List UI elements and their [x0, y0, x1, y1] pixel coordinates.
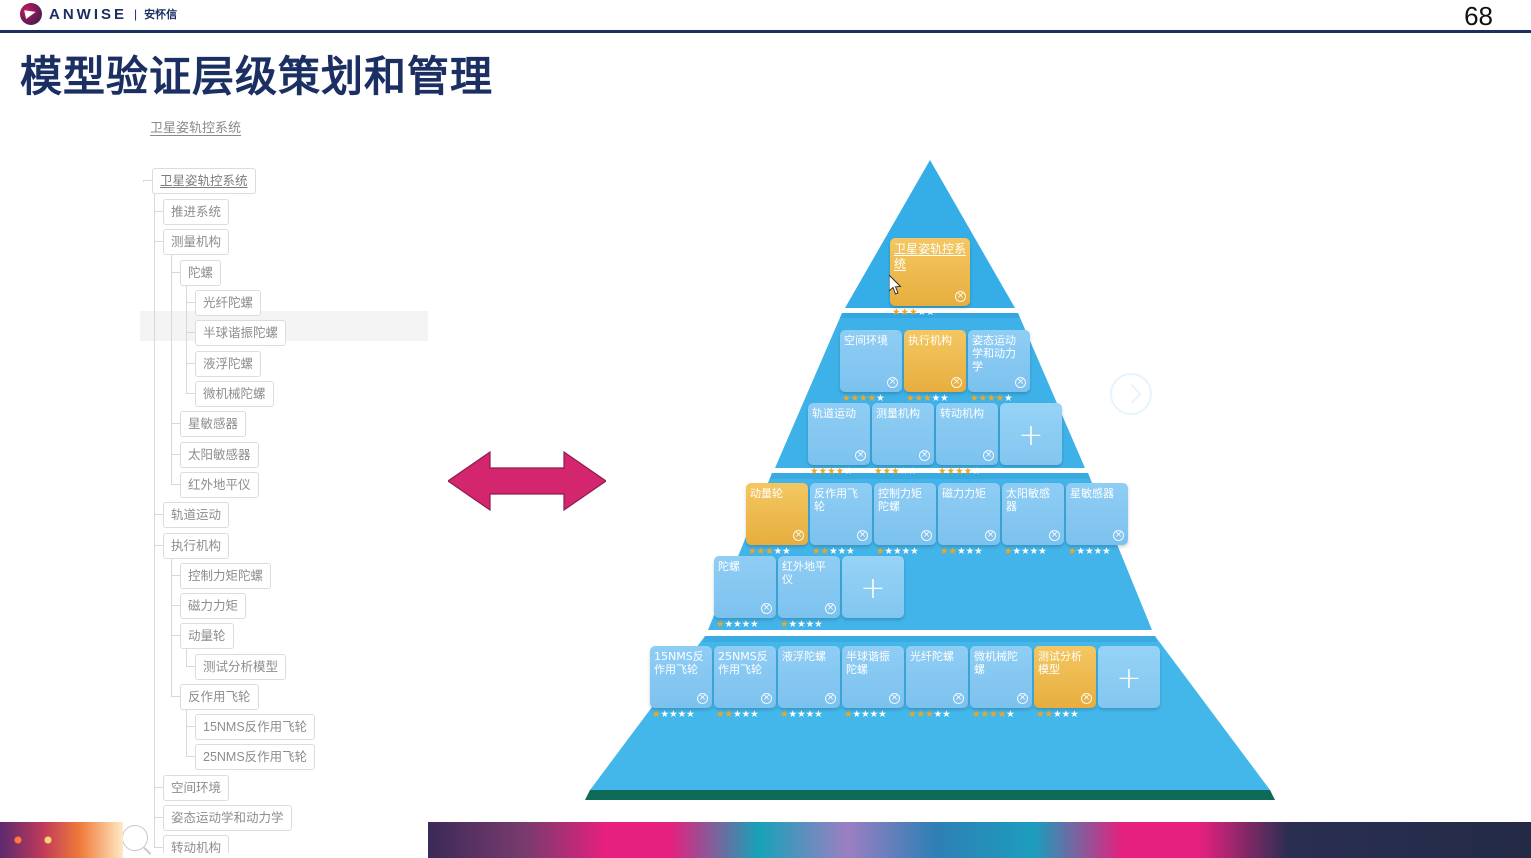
close-icon[interactable]: ×	[855, 450, 866, 461]
tree-node[interactable]: 光纤陀螺	[195, 290, 261, 316]
footer-decoration-band: ANWISE	[428, 822, 1531, 858]
pyramid-card[interactable]: 动量轮×	[746, 483, 808, 545]
pyramid-card[interactable]: 25NMS反作用飞轮×	[714, 646, 776, 708]
pyramid-card[interactable]: 反作用飞轮×	[810, 483, 872, 545]
rating-stars[interactable]: ★★★★★	[780, 620, 823, 630]
close-icon[interactable]: ×	[919, 450, 930, 461]
close-icon[interactable]: ×	[761, 603, 772, 614]
close-icon[interactable]: ×	[951, 377, 962, 388]
tree-node[interactable]: 液浮陀螺	[195, 351, 261, 377]
pyramid-card-label: 红外地平仪	[782, 560, 836, 586]
header-divider	[0, 30, 1531, 33]
pyramid-card[interactable]: 太阳敏感器×	[1002, 483, 1064, 545]
tree-node[interactable]: 反作用飞轮	[180, 684, 259, 710]
close-icon[interactable]: ×	[1113, 530, 1124, 541]
rating-stars[interactable]: ★★★★★	[810, 467, 853, 477]
rating-stars[interactable]: ★★★★★	[940, 547, 983, 557]
pyramid-card-label: 25NMS反作用飞轮	[718, 650, 772, 676]
close-icon[interactable]: ×	[985, 530, 996, 541]
slide-root: ANWISE | 安怀信 68 模型验证层级策划和管理 卫星姿轨控系统 卫星姿轨…	[0, 0, 1531, 858]
rating-stars[interactable]: ★★★★★	[1068, 547, 1111, 557]
close-icon[interactable]: ×	[921, 530, 932, 541]
pyramid-card-label: 星敏感器	[1070, 487, 1124, 500]
rating-stars[interactable]: ★★★★★	[908, 710, 951, 720]
pyramid-card-label: 反作用飞轮	[814, 487, 868, 513]
pyramid-card[interactable]: 光纤陀螺×	[906, 646, 968, 708]
pyramid-card-label: 姿态运动学和动力学	[972, 334, 1026, 373]
pyramid-card-label: 磁力力矩	[942, 487, 996, 500]
pyramid-card-label: 测量机构	[876, 407, 930, 420]
footer-decoration-left	[0, 822, 123, 858]
close-icon[interactable]: ×	[825, 693, 836, 704]
add-card-button[interactable]: +	[842, 556, 904, 618]
pyramid-card[interactable]: 半球谐振陀螺×	[842, 646, 904, 708]
close-icon[interactable]: ×	[1081, 693, 1092, 704]
brand-divider: |	[134, 7, 137, 21]
tree-node[interactable]: 15NMS反作用飞轮	[195, 714, 315, 740]
pyramid-card-label: 15NMS反作用飞轮	[654, 650, 708, 676]
tree-node[interactable]: 测试分析模型	[195, 654, 286, 680]
tree-node[interactable]: 转动机构	[163, 835, 229, 853]
plus-icon: +	[1116, 664, 1141, 694]
pyramid-card-label: 光纤陀螺	[910, 650, 964, 663]
mouse-cursor	[889, 275, 903, 295]
close-icon[interactable]: ×	[1015, 377, 1026, 388]
close-icon[interactable]: ×	[761, 693, 772, 704]
pyramid-card[interactable]: 星敏感器×	[1066, 483, 1128, 545]
tree-node[interactable]: 测量机构	[163, 229, 229, 255]
close-icon[interactable]: ×	[1049, 530, 1060, 541]
tree-node[interactable]: 太阳敏感器	[180, 442, 259, 468]
rating-stars[interactable]: ★★★★★	[716, 620, 759, 630]
pyramid-card-label: 太阳敏感器	[1006, 487, 1060, 513]
pyramid-card[interactable]: 15NMS反作用飞轮×	[650, 646, 712, 708]
pyramid-card[interactable]: 磁力力矩×	[938, 483, 1000, 545]
pyramid-card[interactable]: 姿态运动学和动力学×	[968, 330, 1030, 392]
pyramid-card-label: 空间环境	[844, 334, 898, 347]
rating-stars[interactable]: ★★★★★	[972, 710, 1015, 720]
rating-stars[interactable]: ★★★★★	[874, 467, 917, 477]
tree-node[interactable]: 执行机构	[163, 533, 229, 559]
tree-node[interactable]: 陀螺	[180, 260, 221, 286]
tree-node[interactable]: 星敏感器	[180, 411, 246, 437]
pyramid-card[interactable]: 控制力矩陀螺×	[874, 483, 936, 545]
rating-stars[interactable]: ★★★★★	[780, 710, 823, 720]
pyramid-card[interactable]: 红外地平仪×	[778, 556, 840, 618]
slide-header: ANWISE | 安怀信 68	[0, 0, 1531, 30]
tree-node[interactable]: 动量轮	[180, 623, 234, 649]
pyramid-card[interactable]: 微机械陀螺×	[970, 646, 1032, 708]
tree-node[interactable]: 姿态运动学和动力学	[163, 805, 292, 831]
tree-node[interactable]: 空间环境	[163, 775, 229, 801]
close-icon[interactable]: ×	[1017, 693, 1028, 704]
pyramid-card-label: 液浮陀螺	[782, 650, 836, 663]
pyramid-card-label: 测试分析模型	[1038, 650, 1092, 676]
model-tree-panel[interactable]: 卫星姿轨控系统 卫星姿轨控系统推进系统测量机构陀螺光纤陀螺半球谐振陀螺液浮陀螺微…	[0, 105, 430, 853]
pyramid-card-label: 陀螺	[718, 560, 772, 573]
rating-stars[interactable]: ★★★★★	[1036, 710, 1079, 720]
pyramid-card[interactable]: 转动机构×	[936, 403, 998, 465]
pyramid-card[interactable]: 执行机构×	[904, 330, 966, 392]
plus-icon: +	[860, 574, 885, 604]
tree-node[interactable]: 红外地平仪	[180, 472, 259, 498]
pyramid-card-label: 动量轮	[750, 487, 804, 500]
brand-name: ANWISE	[49, 6, 127, 23]
tree-node[interactable]: 推进系统	[163, 199, 229, 225]
add-card-button[interactable]: +	[1000, 403, 1062, 465]
pyramid-card[interactable]: 空间环境×	[840, 330, 902, 392]
close-icon[interactable]: ×	[983, 450, 994, 461]
tree-node[interactable]: 微机械陀螺	[195, 381, 274, 407]
pyramid-card-label: 轨道运动	[812, 407, 866, 420]
pyramid-card-label: 微机械陀螺	[974, 650, 1028, 676]
tree-node[interactable]: 卫星姿轨控系统	[152, 168, 256, 194]
tree-heading: 卫星姿轨控系统	[150, 117, 241, 136]
pyramid-card-label: 卫星姿轨控系统	[894, 242, 966, 272]
tree-node[interactable]: 25NMS反作用飞轮	[195, 744, 315, 770]
pyramid-card-label: 执行机构	[908, 334, 962, 347]
tree-node[interactable]: 磁力力矩	[180, 593, 246, 619]
rating-stars[interactable]: ★★★★★	[892, 308, 935, 318]
plus-icon: +	[1018, 421, 1043, 451]
rating-stars[interactable]: ★★★★★	[652, 710, 695, 720]
rating-stars[interactable]: ★★★★★	[1004, 547, 1047, 557]
page-number: 68	[1464, 1, 1493, 32]
pyramid-card[interactable]: 卫星姿轨控系统×	[890, 238, 970, 306]
add-card-button[interactable]: +	[1098, 646, 1160, 708]
close-icon[interactable]: ×	[953, 693, 964, 704]
pyramid-card[interactable]: 液浮陀螺×	[778, 646, 840, 708]
close-icon[interactable]: ×	[697, 693, 708, 704]
brand-name-cn: 安怀信	[144, 6, 177, 22]
close-icon[interactable]: ×	[887, 377, 898, 388]
tree-node[interactable]: 半球谐振陀螺	[195, 320, 286, 346]
close-icon[interactable]: ×	[857, 530, 868, 541]
brand-logo: ANWISE | 安怀信	[20, 3, 177, 25]
close-icon[interactable]: ×	[889, 693, 900, 704]
tree-node[interactable]: 控制力矩陀螺	[180, 563, 271, 589]
pyramid-card-label: 转动机构	[940, 407, 994, 420]
pyramid-card-label: 半球谐振陀螺	[846, 650, 900, 676]
pyramid-card[interactable]: 测量机构×	[872, 403, 934, 465]
pyramid-card[interactable]: 陀螺×	[714, 556, 776, 618]
close-icon[interactable]: ×	[955, 291, 966, 302]
page-title: 模型验证层级策划和管理	[20, 43, 493, 104]
rating-stars[interactable]: ★★★★★	[844, 710, 887, 720]
next-page-button[interactable]	[1110, 373, 1152, 415]
rating-stars[interactable]: ★★★★★	[716, 710, 759, 720]
pyramid-card[interactable]: 轨道运动×	[808, 403, 870, 465]
anwise-logo-icon	[20, 3, 42, 25]
close-icon[interactable]: ×	[793, 530, 804, 541]
close-icon[interactable]: ×	[825, 603, 836, 614]
pyramid-card-label: 控制力矩陀螺	[878, 487, 932, 513]
magnifier-icon[interactable]	[122, 825, 148, 851]
pyramid-card[interactable]: 测试分析模型×	[1034, 646, 1096, 708]
rating-stars[interactable]: ★★★★★	[938, 467, 981, 477]
pyramid-diagram[interactable]: ★★★★★卫星姿轨控系统×★★★★★空间环境×★★★★★执行机构×★★★★★姿态…	[540, 150, 1330, 810]
tree-node[interactable]: 轨道运动	[163, 502, 229, 528]
